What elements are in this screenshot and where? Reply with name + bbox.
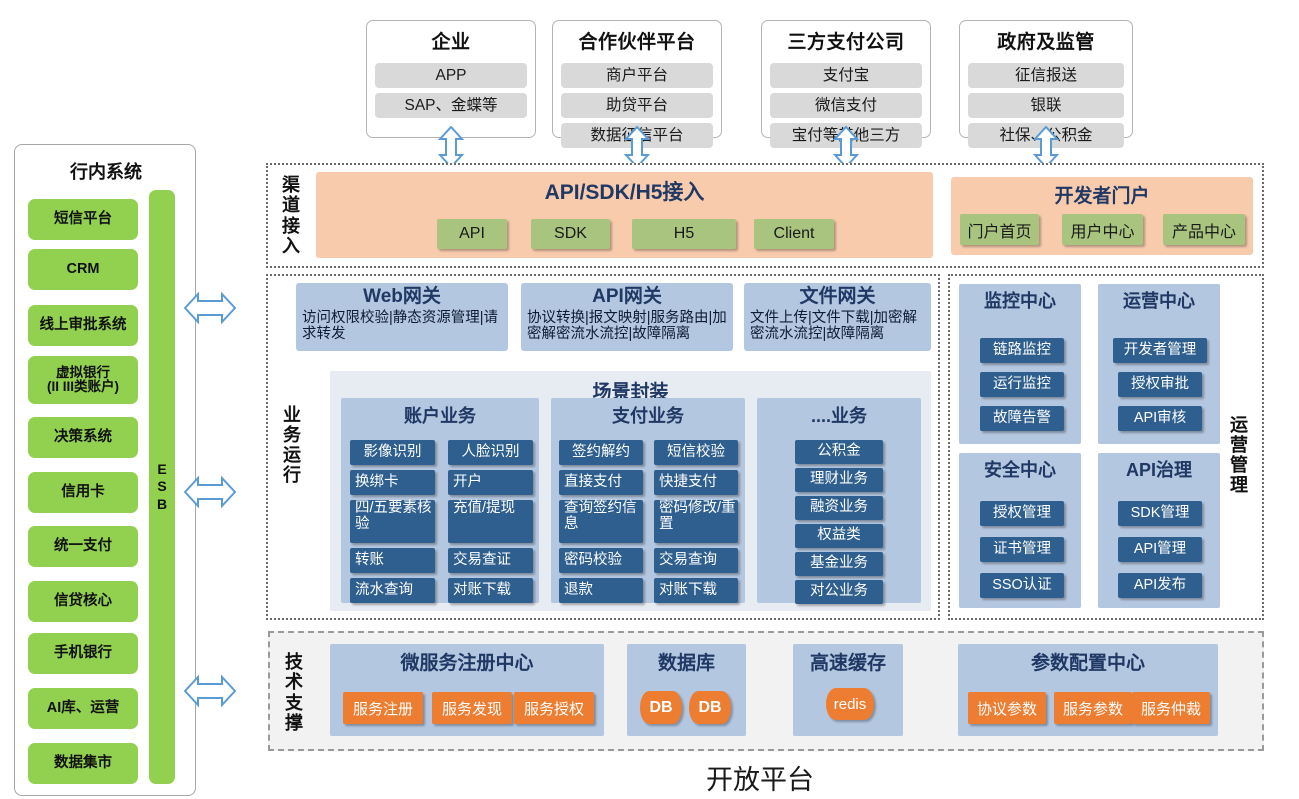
bank-system-mobile-bank[interactable]: 手机银行 [28,633,138,674]
bank-system-decision[interactable]: 决策系统 [28,417,138,458]
scene-chip[interactable]: 人脸识别 [448,440,533,465]
scene-chip[interactable]: 转账 [350,548,435,573]
chip-label: 用户中心 [1070,218,1134,242]
chip-label: 四/五要素核验 [355,501,433,532]
actor-chip: 支付宝 [770,63,922,88]
scene-chip[interactable]: 短信校验 [654,440,738,465]
bank-system-data-mart[interactable]: 数据集市 [28,743,138,784]
portal-chip-user[interactable]: 用户中心 [1062,214,1143,245]
actor-chip: 银联 [968,93,1124,118]
chip-label: redis [834,696,867,713]
scene-chip[interactable]: 查询签约信息 [559,500,643,543]
gateway-desc: 文件上传|文件下载|加密解密流水流控|故障隔离 [750,310,925,343]
bank-system-ai-ops[interactable]: AI库、运营 [28,688,138,729]
chip-label: 开户 [453,475,482,491]
tech-chip-db[interactable]: DB [640,691,682,724]
chip-label: API发布 [1134,578,1186,594]
arrow-left-right-horizontal-icon [184,475,236,509]
channel-chip-client[interactable]: Client [754,219,834,249]
actor-chip: APP [375,63,527,88]
chip-label: SSO认证 [992,578,1052,594]
ops-chip[interactable]: 证书管理 [980,537,1064,562]
gateway-card-api: API网关 协议转换|报文映射|服务路由|加密解密流水流控|故障隔离 [521,283,733,351]
scene-chip[interactable]: 换绑卡 [350,470,435,495]
scene-chip[interactable]: 交易查询 [654,548,738,573]
scene-chip[interactable]: 直接支付 [559,470,643,495]
scene-chip[interactable]: 快捷支付 [654,470,738,495]
chip-label: 短信校验 [667,445,725,461]
actor-chip: SAP、金蝶等 [375,93,527,118]
portal-chip-product[interactable]: 产品中心 [1163,214,1245,245]
scene-chip[interactable]: 四/五要素核验 [350,500,435,543]
bank-chip-label: 线上审批系统 [40,318,127,333]
scene-chip[interactable]: 密码修改/重置 [654,500,738,543]
chip-label: 直接支付 [564,475,622,491]
tech-chip-redis[interactable]: redis [826,688,874,720]
chip-label: 授权审批 [1131,377,1189,393]
scene-chip[interactable]: 开户 [448,470,533,495]
scene-chip[interactable]: 交易查证 [448,548,533,573]
ops-chip[interactable]: 授权审批 [1118,372,1202,397]
scene-chip[interactable]: 对公业务 [795,580,883,604]
chip-label: 对账下载 [453,583,511,599]
tech-card-title: 参数配置中心 [1031,648,1145,675]
chip-label: 密码校验 [564,553,622,569]
chip-label: 退款 [564,583,593,599]
chip-label: 证书管理 [993,542,1051,558]
chip-label: 开发者管理 [1124,343,1197,359]
ops-chip[interactable]: API审核 [1118,406,1202,431]
arrow-up-down-vertical-icon [438,126,464,168]
scene-chip[interactable]: 理财业务 [795,468,883,492]
tech-chip-service-register[interactable]: 服务注册 [343,692,423,724]
scene-chip[interactable]: 充值/提现 [448,500,533,543]
chip-label: 服务授权 [524,698,584,719]
chip-label: API审核 [1134,411,1186,427]
chip-label: 门户首页 [967,218,1031,242]
chip-label: 换绑卡 [355,475,399,491]
actor-chip: 微信支付 [770,93,922,118]
chip-label: 协议参数 [977,698,1037,719]
ops-chip[interactable]: 开发者管理 [1113,338,1207,363]
scene-chip[interactable]: 退款 [559,578,643,603]
bank-system-virtual-bank[interactable]: 虚拟银行 (II III类账户) [28,356,138,404]
scene-chip[interactable]: 密码校验 [559,548,643,573]
chip-label: 对公业务 [810,584,868,600]
channel-access-label: 渠 道 接 入 [274,168,308,263]
tech-card-title: 微服务注册中心 [400,648,533,675]
arrow-up-down-vertical-icon [1033,126,1059,168]
scenario-group-title: ....业务 [757,402,921,428]
actor-chip: 助贷平台 [561,93,713,118]
chip-label: DB [698,699,721,717]
actor-card-third-party-payment: 三方支付公司 支付宝 微信支付 宝付等其他三方 [761,20,931,138]
ops-chip[interactable]: 授权管理 [980,501,1064,526]
chip-label: 公积金 [817,444,861,460]
tech-chip-service-arbitration[interactable]: 服务仲裁 [1132,692,1210,724]
bank-system-sms[interactable]: 短信平台 [28,199,138,240]
chip-label: 服务注册 [353,698,413,719]
scene-chip[interactable]: 对账下载 [448,578,533,603]
api-sdk-h5-access-box: API/SDK/H5接入 [316,172,933,258]
chip-label: 充值/提现 [453,501,515,517]
channel-chip-h5[interactable]: H5 [632,219,736,249]
bank-system-credit-card[interactable]: 信用卡 [28,472,138,513]
esb-bus: ESB [149,190,175,784]
actor-title: 企业 [375,27,527,54]
scene-chip[interactable]: 对账下载 [654,578,738,603]
chip-label: 服务发现 [442,698,502,719]
gateway-title: API网关 [592,286,662,308]
channel-chip-api[interactable]: API [437,219,507,249]
ops-card-title: 安全中心 [984,456,1056,482]
esb-label: ESB [156,461,168,514]
gateway-desc: 访问权限校验|静态资源管理|请求转发 [302,310,502,343]
chip-label: 故障告警 [993,411,1051,427]
chip-label: 对账下载 [659,583,717,599]
scene-chip[interactable]: 融资业务 [795,496,883,520]
chip-label: 基金业务 [810,556,868,572]
chip-label: 服务参数 [1063,698,1123,719]
chip-label: 产品中心 [1172,218,1236,242]
bank-chip-label: 统一支付 [54,539,112,554]
actor-title: 三方支付公司 [770,27,922,54]
scenario-group-title: 账户业务 [341,402,539,428]
chip-label: 流水查询 [355,583,413,599]
portal-chip-home[interactable]: 门户首页 [960,214,1039,245]
api-access-title: API/SDK/H5接入 [545,176,705,206]
bank-system-unified-payment[interactable]: 统一支付 [28,526,138,567]
chip-label: 运行监控 [993,377,1051,393]
bank-system-credit-core[interactable]: 信贷核心 [28,581,138,622]
tech-chip-service-discovery[interactable]: 服务发现 [432,692,512,724]
ops-card-title: 运营中心 [1123,287,1195,313]
bank-system-online-approval[interactable]: 线上审批系统 [28,305,138,346]
tech-card-title: 数据库 [658,648,715,675]
arrow-left-right-horizontal-icon [184,291,236,325]
chip-label: SDK管理 [1131,506,1190,522]
chip-label: 转账 [355,553,384,569]
arrow-left-right-horizontal-icon [184,674,236,708]
chip-label: 理财业务 [810,472,868,488]
chip-label: SDK [554,225,587,243]
bank-chip-label: 虚拟银行 (II III类账户) [47,366,119,394]
bank-chip-label: 信用卡 [61,485,105,500]
chip-label: 链路监控 [993,343,1051,359]
chip-label: 权益类 [817,528,861,544]
chip-label: 授权管理 [993,506,1051,522]
ops-card-title: API治理 [1126,456,1192,482]
ops-chip[interactable]: API管理 [1118,537,1202,562]
bank-chip-label: 数据集市 [54,756,112,771]
scene-chip[interactable]: 流水查询 [350,578,435,603]
bank-chip-label: 信贷核心 [54,594,112,609]
page-title: 开放平台 [236,758,1284,797]
bank-chip-label: CRM [66,262,99,277]
gateway-card-web: Web网关 访问权限校验|静态资源管理|请求转发 [296,283,508,351]
scene-chip[interactable]: 影像识别 [350,440,435,465]
arrow-up-down-vertical-icon [833,126,859,168]
chip-label: 快捷支付 [659,475,717,491]
arrow-up-down-vertical-icon [624,126,650,168]
ops-chip[interactable]: 故障告警 [980,406,1064,431]
actor-card-partner-platform: 合作伙伴平台 商户平台 助贷平台 数据征信平台 [552,20,722,138]
chip-label: 人脸识别 [462,445,520,461]
chip-label: 交易查询 [659,553,717,569]
chip-label: 交易查证 [453,553,511,569]
developer-portal-title: 开发者门户 [1054,181,1149,208]
gateway-title: Web网关 [363,286,441,308]
tech-chip-service-param[interactable]: 服务参数 [1054,692,1132,724]
channel-chip-sdk[interactable]: SDK [531,219,610,249]
tech-chip-db[interactable]: DB [689,691,731,724]
bank-system-crm[interactable]: CRM [28,249,138,290]
tech-chip-service-authorize[interactable]: 服务授权 [514,692,594,724]
bank-chip-label: 手机银行 [54,646,112,661]
actor-chip: 商户平台 [561,63,713,88]
scenario-group-title: 支付业务 [551,402,745,428]
ops-card-title: 监控中心 [984,287,1056,313]
tech-card-title: 高速缓存 [810,648,886,675]
scene-chip[interactable]: 签约解约 [559,440,643,465]
ops-chip[interactable]: SSO认证 [980,573,1064,598]
gateway-card-file: 文件网关 文件上传|文件下载|加密解密流水流控|故障隔离 [744,283,931,351]
actor-card-government-regulator: 政府及监管 征信报送 银联 社保、公积金 [959,20,1133,138]
scene-chip[interactable]: 基金业务 [795,552,883,576]
tech-chip-protocol-param[interactable]: 协议参数 [968,692,1046,724]
ops-chip[interactable]: API发布 [1118,573,1202,598]
chip-label: 融资业务 [810,500,868,516]
actor-card-enterprise: 企业 APP SAP、金蝶等 [366,20,536,138]
chip-label: 密码修改/重置 [659,501,736,532]
actor-chip: 征信报送 [968,63,1124,88]
chip-label: 服务仲裁 [1141,698,1201,719]
diagram-root: 企业 APP SAP、金蝶等 合作伙伴平台 商户平台 助贷平台 数据征信平台 三… [0,0,1299,799]
bank-panel-title: 行内系统 [15,158,197,184]
actor-title: 合作伙伴平台 [561,27,713,54]
bank-chip-label: 短信平台 [54,212,112,227]
scene-chip[interactable]: 权益类 [795,524,883,548]
chip-label: 影像识别 [364,445,422,461]
chip-label: API管理 [1134,542,1186,558]
ops-chip[interactable]: 链路监控 [980,338,1064,363]
tech-support-label: 技 术 支 撑 [278,645,310,740]
bank-chip-label: 决策系统 [54,430,112,445]
ops-chip[interactable]: 运行监控 [980,372,1064,397]
actor-title: 政府及监管 [968,27,1124,54]
gateway-desc: 协议转换|报文映射|服务路由|加密解密流水流控|故障隔离 [527,310,727,343]
scene-chip[interactable]: 公积金 [795,440,883,464]
business-operation-label: 业 务 运 行 [276,390,308,500]
chip-label: Client [774,225,815,243]
chip-label: DB [649,699,672,717]
ops-management-label: 运 营 管 理 [1223,400,1255,510]
chip-label: 查询签约信息 [564,501,641,532]
gateway-title: 文件网关 [799,286,875,308]
chip-label: 签约解约 [572,445,630,461]
bank-chip-label: AI库、运营 [47,701,120,716]
chip-label: API [459,225,485,243]
chip-label: H5 [674,225,694,243]
ops-chip[interactable]: SDK管理 [1118,501,1202,526]
